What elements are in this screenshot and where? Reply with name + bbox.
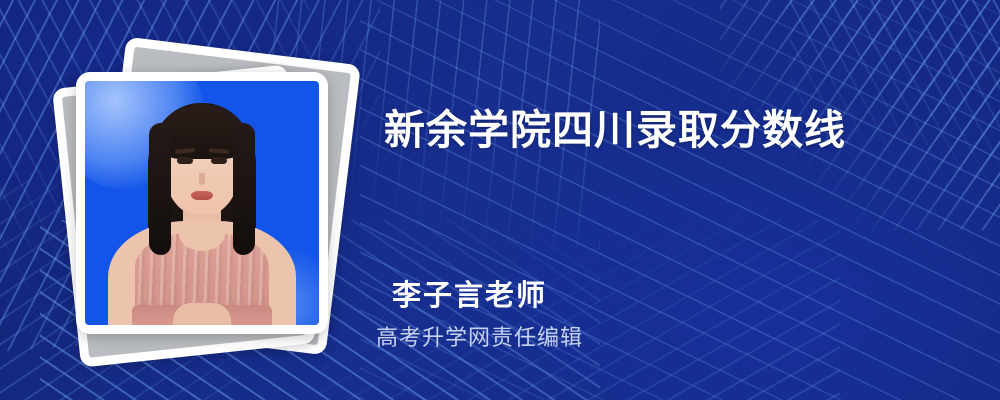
portrait-illustration: [85, 81, 319, 325]
page-title: 新余学院四川录取分数线: [384, 96, 846, 156]
author-photo-stack: [60, 50, 360, 360]
author-role: 高考升学网责任编辑: [376, 320, 583, 352]
article-header-banner: 新余学院四川录取分数线 李子言老师 高考升学网责任编辑: [0, 0, 1000, 400]
portrait-eye-right: [211, 157, 227, 164]
portrait-eye-left: [177, 157, 193, 164]
portrait-hair-left: [149, 123, 171, 255]
author-photo-card: [76, 72, 328, 334]
portrait-nose: [199, 173, 205, 185]
portrait-hair-right: [233, 123, 255, 255]
portrait-hands: [173, 303, 231, 325]
author-name: 李子言老师: [392, 272, 547, 314]
portrait-lips: [191, 191, 213, 200]
author-avatar: [85, 81, 319, 325]
banner-text-column: 新余学院四川录取分数线 李子言老师 高考升学网责任编辑: [384, 0, 984, 400]
